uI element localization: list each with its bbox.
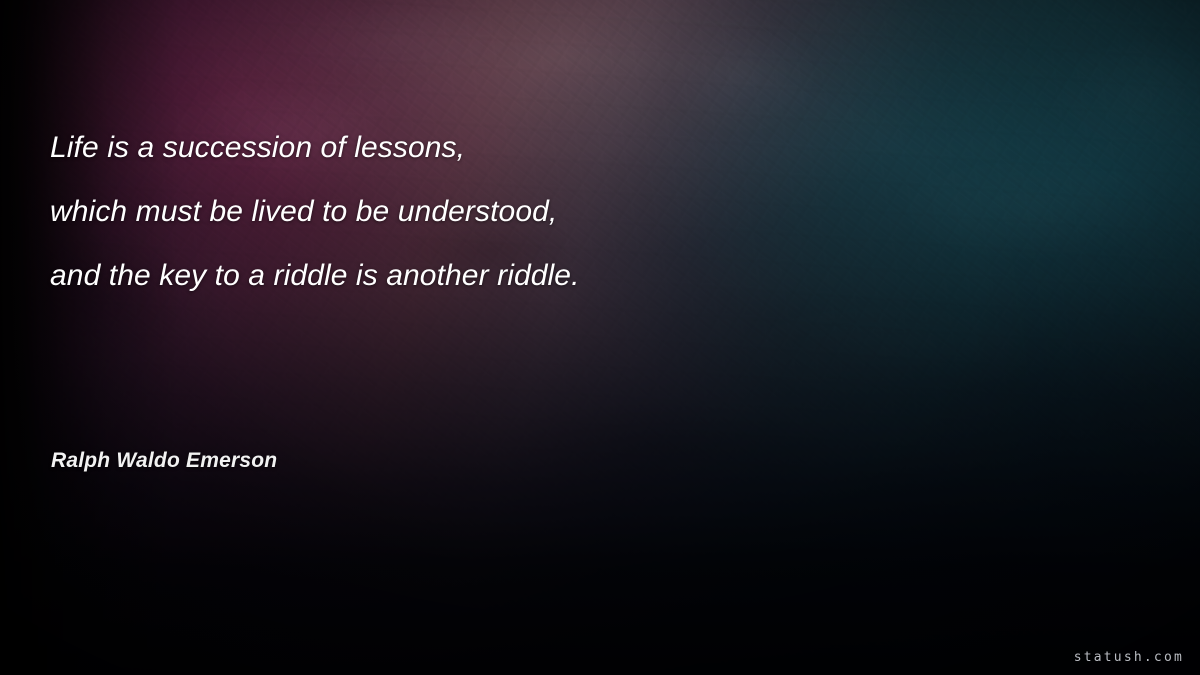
site-watermark: statush.com: [1074, 650, 1184, 665]
quote-line-1: Life is a succession of lessons,: [50, 116, 1100, 180]
quote-text: Life is a succession of lessons, which m…: [50, 116, 1100, 308]
card-content: Life is a succession of lessons, which m…: [0, 0, 1200, 675]
quote-image-card: Life is a succession of lessons, which m…: [0, 0, 1200, 675]
quote-line-3: and the key to a riddle is another riddl…: [50, 244, 1100, 308]
quote-line-2: which must be lived to be understood,: [50, 180, 1100, 244]
author-attribution: Ralph Waldo Emerson: [51, 449, 277, 473]
